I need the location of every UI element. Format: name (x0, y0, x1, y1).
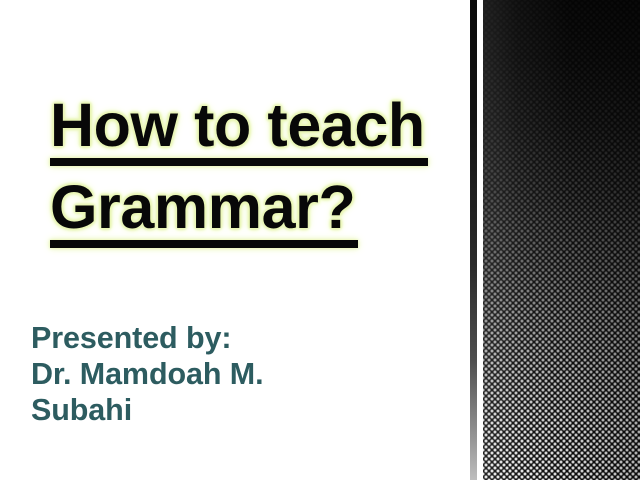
title-line-2: Grammar? (50, 168, 470, 250)
title-line-2-text: Grammar? (50, 168, 355, 246)
decorative-right-panel (470, 0, 640, 480)
panel-edge-rule (470, 0, 477, 480)
slide-title: How to teach Grammar? (50, 86, 470, 250)
carbon-fiber-mesh-image (483, 0, 640, 480)
subtitle-line-1: Presented by: (31, 320, 461, 356)
presentation-slide: How to teach Grammar? Presented by: Dr. … (0, 0, 640, 480)
title-line-1: How to teach (50, 86, 470, 168)
title-line-1-text: How to teach (50, 86, 425, 164)
subtitle-line-2: Dr. Mamdoah M. (31, 356, 461, 392)
slide-subtitle: Presented by: Dr. Mamdoah M. Subahi (31, 320, 461, 428)
subtitle-line-3: Subahi (31, 392, 461, 428)
